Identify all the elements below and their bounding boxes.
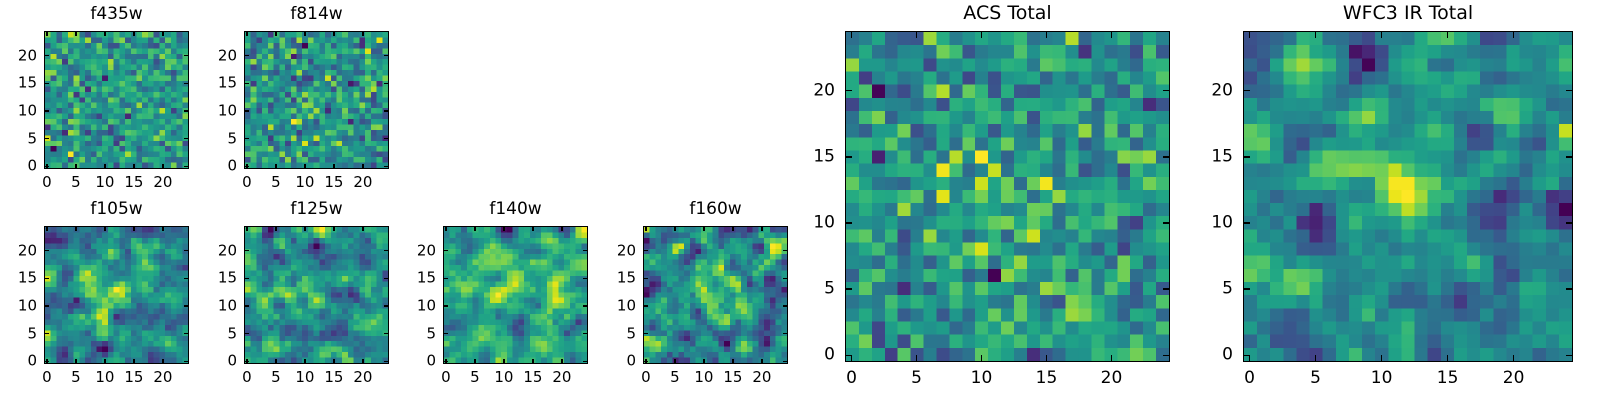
x-tick-label-f140w-3: 15 [523,370,542,385]
heatmap-image-f140w [444,227,587,363]
x-tick-top-f160w-1 [674,226,675,231]
x-tick-f125w-2 [304,359,305,364]
x-tick-label-f125w-1: 5 [271,370,281,385]
y-tick-right-f105w-1 [184,333,189,334]
x-tick-top-f160w-2 [703,226,704,231]
x-tick-top-f160w-0 [645,226,646,231]
x-tick-label-f105w-1: 5 [71,370,81,385]
y-tick-label-acs-total-4: 20 [813,82,835,99]
x-tick-top-wfc3-ir-total-3 [1447,31,1449,38]
y-tick-label-acs-total-0: 0 [824,347,835,364]
x-tick-wfc3-ir-total-4 [1513,355,1515,362]
x-tick-wfc3-ir-total-1 [1315,355,1317,362]
x-tick-label-f105w-4: 20 [153,370,172,385]
y-tick-right-acs-total-0 [1163,355,1170,357]
heatmap-image-f125w [245,227,388,363]
x-tick-f140w-1 [474,359,475,364]
y-tick-label-f140w-0: 0 [426,354,436,369]
y-tick-label-f125w-1: 5 [227,326,237,341]
y-tick-label-f160w-0: 0 [626,354,636,369]
y-tick-label-wfc3-ir-total-1: 5 [1222,281,1233,298]
y-tick-label-f125w-0: 0 [227,354,237,369]
x-tick-wfc3-ir-total-2 [1381,355,1383,362]
y-tick-f160w-1 [643,333,648,334]
x-tick-f105w-3 [133,359,134,364]
x-tick-top-f125w-4 [362,226,363,231]
y-tick-right-f125w-3 [384,278,389,279]
x-tick-label-f125w-2: 10 [295,370,314,385]
y-tick-right-acs-total-4 [1163,90,1170,92]
x-tick-f125w-4 [362,359,363,364]
x-tick-top-f105w-4 [162,226,163,231]
x-tick-label-f140w-4: 20 [552,370,571,385]
x-tick-top-f140w-4 [561,226,562,231]
x-tick-top-f140w-1 [474,226,475,231]
x-tick-label-wfc3-ir-total-0: 0 [1244,370,1255,387]
panel-title-f160w: f160w [643,201,788,218]
y-tick-right-f125w-2 [384,305,389,306]
heatmap-axes-wfc3-ir-total [1243,31,1573,362]
x-tick-f160w-4 [761,359,762,364]
y-tick-label-f105w-3: 15 [18,271,37,286]
x-tick-top-f125w-2 [304,226,305,231]
x-tick-top-f105w-2 [104,226,105,231]
y-tick-label-f125w-3: 15 [218,271,237,286]
x-tick-label-f125w-0: 0 [242,370,252,385]
x-tick-f160w-3 [732,359,733,364]
y-tick-label-acs-total-2: 10 [813,214,835,231]
y-tick-f125w-2 [244,305,249,306]
y-tick-right-wfc3-ir-total-2 [1566,222,1573,224]
x-tick-label-f160w-0: 0 [641,370,651,385]
y-tick-wfc3-ir-total-0 [1243,355,1250,357]
y-tick-right-f105w-2 [184,305,189,306]
x-tick-label-f160w-3: 15 [723,370,742,385]
figure-canvas: f435w0510152005101520f814w05101520051015… [0,0,1600,400]
panel-title-f125w: f125w [244,201,389,218]
y-tick-label-wfc3-ir-total-0: 0 [1222,347,1233,364]
x-tick-f160w-1 [674,359,675,364]
panel-f125w: f125w0510152005101520 [216,0,399,394]
y-tick-right-f160w-1 [783,333,788,334]
y-tick-f140w-4 [443,250,448,251]
x-tick-label-f160w-2: 10 [694,370,713,385]
y-tick-acs-total-2 [845,222,852,224]
y-tick-right-wfc3-ir-total-3 [1566,156,1573,158]
heatmap-axes-f160w [643,226,788,364]
y-tick-right-wfc3-ir-total-1 [1566,288,1573,290]
x-tick-label-acs-total-4: 20 [1101,370,1123,387]
x-tick-top-f105w-3 [133,226,134,231]
x-tick-top-acs-total-1 [916,31,918,38]
x-tick-label-wfc3-ir-total-3: 15 [1437,370,1459,387]
x-tick-label-f105w-0: 0 [42,370,52,385]
x-tick-label-f105w-3: 15 [124,370,143,385]
panel-title-wfc3-ir-total: WFC3 IR Total [1243,4,1573,23]
y-tick-right-acs-total-1 [1163,288,1170,290]
y-tick-label-f140w-3: 15 [417,271,436,286]
heatmap-image-acs-total [846,32,1169,361]
y-tick-label-f160w-2: 10 [617,299,636,314]
x-tick-top-wfc3-ir-total-4 [1513,31,1515,38]
panel-title-f105w: f105w [44,201,189,218]
y-tick-right-wfc3-ir-total-4 [1566,90,1573,92]
x-tick-f140w-4 [561,359,562,364]
x-tick-top-f105w-0 [46,226,47,231]
x-tick-label-wfc3-ir-total-1: 5 [1310,370,1321,387]
x-tick-top-f160w-3 [732,226,733,231]
y-tick-f125w-3 [244,278,249,279]
x-tick-label-f160w-1: 5 [670,370,680,385]
y-tick-label-wfc3-ir-total-2: 10 [1211,214,1233,231]
y-tick-label-f140w-1: 5 [426,326,436,341]
y-tick-f125w-4 [244,250,249,251]
panel-f105w: f105w0510152005101520 [16,0,199,394]
y-tick-right-f125w-4 [384,250,389,251]
y-tick-f105w-0 [44,361,49,362]
panel-title-f140w: f140w [443,201,588,218]
x-tick-f105w-4 [162,359,163,364]
y-tick-f160w-4 [643,250,648,251]
y-tick-f105w-1 [44,333,49,334]
x-tick-label-f140w-1: 5 [470,370,480,385]
x-tick-label-acs-total-2: 10 [971,370,993,387]
y-tick-right-f140w-0 [583,361,588,362]
x-tick-f160w-2 [703,359,704,364]
heatmap-image-wfc3-ir-total [1244,32,1572,361]
x-tick-top-wfc3-ir-total-0 [1249,31,1251,38]
y-tick-f140w-2 [443,305,448,306]
x-tick-acs-total-3 [1046,355,1048,362]
x-tick-acs-total-4 [1111,355,1113,362]
x-tick-f105w-1 [75,359,76,364]
panel-acs-total: ACS Total0510152005101520 [800,0,1180,400]
x-tick-top-acs-total-4 [1111,31,1113,38]
y-tick-label-acs-total-1: 5 [824,281,835,298]
y-tick-label-f105w-0: 0 [27,354,37,369]
heatmap-image-f105w [45,227,188,363]
y-tick-label-wfc3-ir-total-4: 20 [1211,82,1233,99]
heatmap-axes-f140w [443,226,588,364]
y-tick-wfc3-ir-total-2 [1243,222,1250,224]
x-tick-label-acs-total-3: 15 [1036,370,1058,387]
y-tick-f160w-3 [643,278,648,279]
y-tick-right-f105w-4 [184,250,189,251]
x-tick-top-acs-total-0 [851,31,853,38]
y-tick-f160w-0 [643,361,648,362]
x-tick-top-f140w-2 [503,226,504,231]
panel-wfc3-ir-total: WFC3 IR Total0510152005101520 [1198,0,1583,400]
y-tick-label-f125w-4: 20 [218,243,237,258]
y-tick-right-f160w-0 [783,361,788,362]
x-tick-label-f125w-4: 20 [353,370,372,385]
y-tick-wfc3-ir-total-3 [1243,156,1250,158]
y-tick-acs-total-0 [845,355,852,357]
y-tick-right-f160w-2 [783,305,788,306]
x-tick-label-f140w-2: 10 [494,370,513,385]
y-tick-right-acs-total-3 [1163,156,1170,158]
x-tick-label-f160w-4: 20 [752,370,771,385]
x-tick-top-f105w-1 [75,226,76,231]
y-tick-label-f125w-2: 10 [218,299,237,314]
x-tick-label-acs-total-1: 5 [911,370,922,387]
y-tick-f125w-1 [244,333,249,334]
x-tick-label-f140w-0: 0 [441,370,451,385]
y-tick-right-f140w-3 [583,278,588,279]
x-tick-f125w-3 [333,359,334,364]
y-tick-label-f105w-1: 5 [27,326,37,341]
x-tick-f140w-2 [503,359,504,364]
y-tick-right-f160w-4 [783,250,788,251]
x-tick-top-f160w-4 [761,226,762,231]
x-tick-top-f140w-0 [445,226,446,231]
x-tick-acs-total-2 [981,355,983,362]
x-tick-label-f105w-2: 10 [95,370,114,385]
y-tick-right-f105w-3 [184,278,189,279]
x-tick-acs-total-1 [916,355,918,362]
x-tick-top-f125w-1 [275,226,276,231]
y-tick-wfc3-ir-total-1 [1243,288,1250,290]
y-tick-right-f140w-1 [583,333,588,334]
y-tick-acs-total-1 [845,288,852,290]
y-tick-acs-total-3 [845,156,852,158]
y-tick-f160w-2 [643,305,648,306]
y-tick-right-f125w-1 [384,333,389,334]
x-tick-top-f140w-3 [532,226,533,231]
y-tick-label-f105w-4: 20 [18,243,37,258]
panel-f140w: f140w0510152005101520 [415,0,598,394]
panel-f160w: f160w0510152005101520 [615,0,798,394]
y-tick-label-f160w-4: 20 [617,243,636,258]
x-tick-top-acs-total-2 [981,31,983,38]
x-tick-top-wfc3-ir-total-2 [1381,31,1383,38]
x-tick-wfc3-ir-total-3 [1447,355,1449,362]
x-tick-label-wfc3-ir-total-4: 20 [1503,370,1525,387]
x-tick-label-acs-total-0: 0 [846,370,857,387]
y-tick-label-wfc3-ir-total-3: 15 [1211,148,1233,165]
heatmap-axes-f105w [44,226,189,364]
y-tick-f140w-0 [443,361,448,362]
y-tick-f105w-4 [44,250,49,251]
panel-title-acs-total: ACS Total [845,4,1170,23]
y-tick-f105w-3 [44,278,49,279]
y-tick-f140w-1 [443,333,448,334]
y-tick-right-f140w-2 [583,305,588,306]
x-tick-label-f125w-3: 15 [324,370,343,385]
y-tick-label-f160w-1: 5 [626,326,636,341]
x-tick-top-acs-total-3 [1046,31,1048,38]
x-tick-f125w-1 [275,359,276,364]
x-tick-f140w-3 [532,359,533,364]
y-tick-wfc3-ir-total-4 [1243,90,1250,92]
x-tick-f105w-2 [104,359,105,364]
heatmap-image-f160w [644,227,787,363]
x-tick-label-wfc3-ir-total-2: 10 [1371,370,1393,387]
y-tick-f125w-0 [244,361,249,362]
y-tick-acs-total-4 [845,90,852,92]
y-tick-label-f140w-2: 10 [417,299,436,314]
heatmap-axes-f125w [244,226,389,364]
y-tick-right-f125w-0 [384,361,389,362]
y-tick-label-acs-total-3: 15 [813,148,835,165]
x-tick-top-f125w-3 [333,226,334,231]
y-tick-right-wfc3-ir-total-0 [1566,355,1573,357]
y-tick-f105w-2 [44,305,49,306]
y-tick-label-f140w-4: 20 [417,243,436,258]
y-tick-right-f140w-4 [583,250,588,251]
x-tick-top-wfc3-ir-total-1 [1315,31,1317,38]
y-tick-right-f160w-3 [783,278,788,279]
y-tick-label-f160w-3: 15 [617,271,636,286]
heatmap-axes-acs-total [845,31,1170,362]
y-tick-label-f105w-2: 10 [18,299,37,314]
y-tick-right-acs-total-2 [1163,222,1170,224]
x-tick-top-f125w-0 [246,226,247,231]
y-tick-f140w-3 [443,278,448,279]
y-tick-right-f105w-0 [184,361,189,362]
